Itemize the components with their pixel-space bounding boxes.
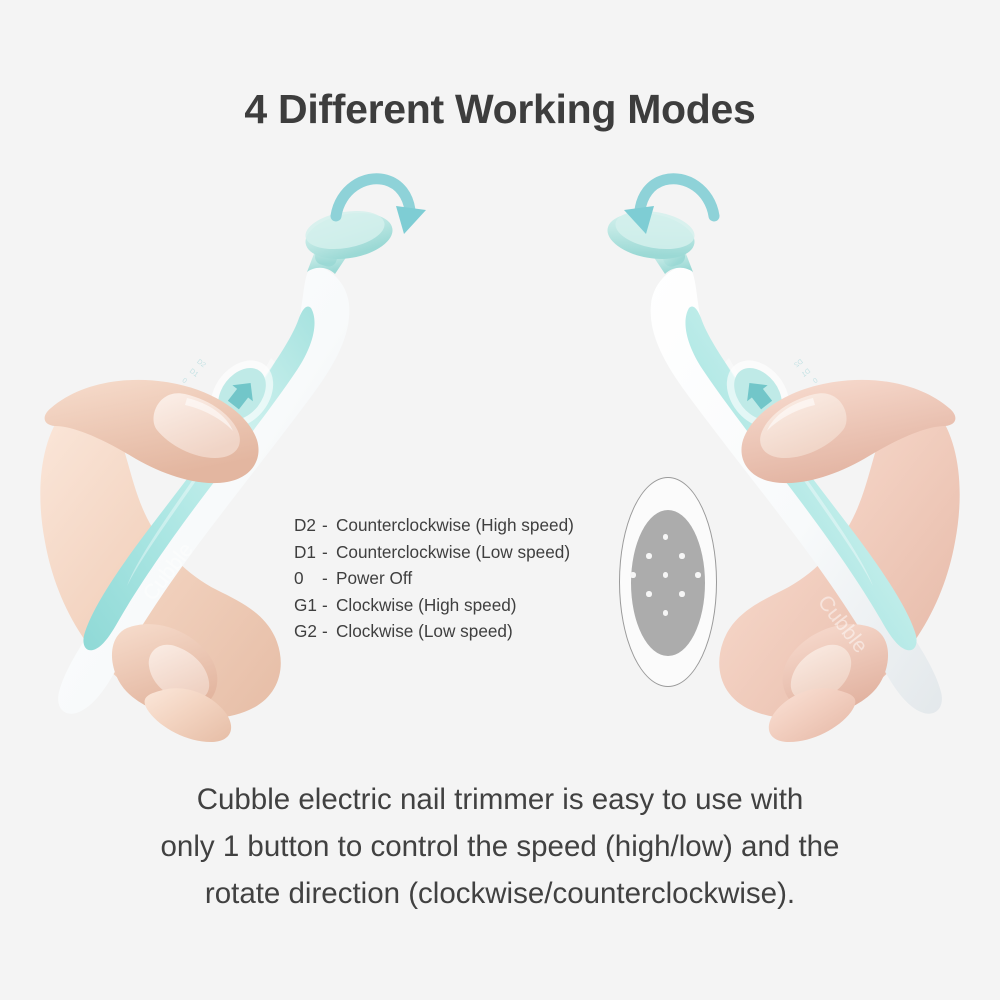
mode-label: Clockwise (High speed) [336,595,517,616]
svg-text:D2: D2 [793,358,804,369]
caption-line-1: Cubble electric nail trimmer is easy to … [60,776,940,823]
mode-code: D1 [294,542,322,563]
disc-dot [646,553,651,558]
page-title: 4 Different Working Modes [0,86,1000,133]
mode-label: Counterclockwise (High speed) [336,515,574,536]
disc-dot [663,610,668,615]
mode-dash: - [322,542,336,563]
mode-label: Counterclockwise (Low speed) [336,542,570,563]
disc-dot [695,572,700,577]
mode-row: D2-Counterclockwise (High speed) [294,515,634,542]
product-feature-graphic: 4 Different Working Modes [0,0,1000,1000]
arrow-head-icon [396,206,426,234]
mode-dash: - [322,595,336,616]
product-caption: Cubble electric nail trimmer is easy to … [60,776,940,917]
mode-dash: - [322,515,336,536]
caption-line-2: only 1 button to control the speed (high… [60,823,940,870]
disc-dot [679,553,684,558]
disc-dot [663,534,668,539]
mode-code: 0 [294,568,322,589]
disc-abrasive-pad [631,510,705,656]
mode-row: G1-Clockwise (High speed) [294,595,634,622]
disc-dot [679,591,684,596]
mode-legend: D2-Counterclockwise (High speed)D1-Count… [294,515,634,648]
svg-text:D1: D1 [188,368,199,379]
left-rotation-arrow [330,168,430,240]
disc-dot [663,572,668,577]
mode-code: G1 [294,595,322,616]
svg-text:0: 0 [812,377,819,385]
caption-line-3: rotate direction (clockwise/counterclock… [60,870,940,917]
mode-dash: - [322,621,336,642]
mode-row: G2-Clockwise (Low speed) [294,621,634,648]
mode-row: D1-Counterclockwise (Low speed) [294,542,634,569]
mode-code: D2 [294,515,322,536]
mode-label: Power Off [336,568,412,589]
arrow-head-icon [624,206,654,234]
svg-text:D2: D2 [195,358,206,369]
mode-code: G2 [294,621,322,642]
right-device-in-hand: D2 D1 0 G1 G2 [545,150,965,740]
disc-dot [646,591,651,596]
mode-row: 0-Power Off [294,568,634,595]
mode-label: Clockwise (Low speed) [336,621,513,642]
mode-dash: - [322,568,336,589]
right-rotation-arrow [620,168,720,240]
svg-text:0: 0 [181,377,188,385]
svg-text:D1: D1 [801,368,812,379]
